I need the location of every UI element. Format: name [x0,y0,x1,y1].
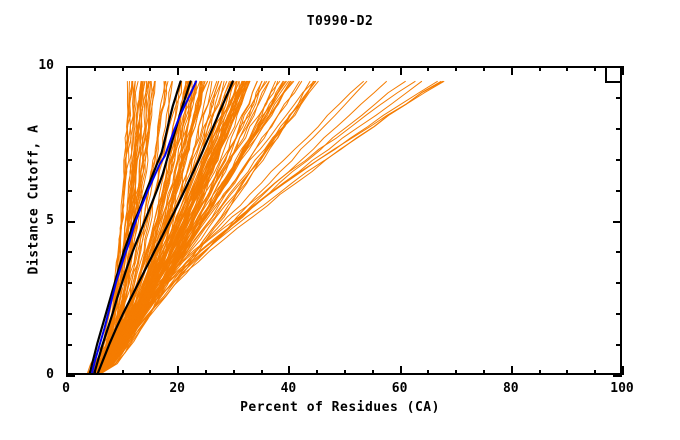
axis-tick [616,97,622,99]
chart-figure: T0990-D2 0204060801000510 Percent of Res… [0,0,680,440]
x-tick-label: 80 [491,381,531,396]
axis-tick [149,370,151,375]
chart-title: T0990-D2 [0,14,680,29]
axis-tick [66,313,72,315]
axis-tick [539,66,541,71]
axis-tick [316,370,318,375]
axis-tick [66,190,72,192]
axis-tick [261,66,263,71]
axis-tick [616,128,622,130]
axis-tick [94,66,96,71]
axis-tick [205,370,207,375]
axis-tick [372,370,374,375]
axis-tick [594,370,596,375]
axis-tick [233,370,235,375]
axis-tick [616,251,622,253]
axis-tick [511,366,513,375]
x-axis-label: Percent of Residues (CA) [0,400,680,415]
axis-tick [613,221,622,223]
plot-area [66,66,622,375]
prediction-curves-group [86,81,444,375]
axis-tick [66,159,72,161]
axis-tick [316,66,318,71]
axis-tick [427,370,429,375]
axis-tick [66,251,72,253]
axis-tick [622,366,624,375]
axis-tick [66,375,75,377]
axis-tick [94,370,96,375]
x-tick-label: 40 [268,381,308,396]
x-tick-label: 0 [46,381,86,396]
axis-tick [616,344,622,346]
axis-tick [344,66,346,71]
x-tick-label: 60 [380,381,420,396]
axis-tick [400,366,402,375]
axis-tick [122,370,124,375]
axis-tick [613,375,622,377]
axis-tick [288,366,290,375]
axis-tick [372,66,374,71]
axis-tick [566,66,568,71]
axis-tick [539,370,541,375]
axis-tick [455,370,457,375]
axis-tick [613,66,622,68]
axis-tick [66,282,72,284]
axis-tick [616,190,622,192]
axis-tick [149,66,151,71]
axis-tick [177,66,179,75]
axis-tick [594,66,596,71]
axis-tick [616,313,622,315]
axis-tick [205,66,207,71]
axis-tick [622,66,624,75]
axis-tick [511,66,513,75]
axis-tick [177,366,179,375]
axis-tick [66,221,75,223]
axis-tick [616,282,622,284]
axis-tick [66,97,72,99]
axis-tick [400,66,402,75]
axis-tick [616,159,622,161]
x-tick-label: 100 [602,381,642,396]
axis-tick [427,66,429,71]
curve-canvas [66,66,622,375]
y-axis-label: Distance Cutoff, A [27,80,42,320]
axis-tick [261,370,263,375]
axis-tick [455,66,457,71]
axis-tick [566,370,568,375]
axis-tick [233,66,235,71]
axis-tick [344,370,346,375]
axis-tick [483,66,485,71]
y-tick-label: 10 [28,58,54,73]
x-tick-label: 20 [157,381,197,396]
y-tick-label: 0 [28,367,54,382]
axis-tick [66,128,72,130]
axis-tick [66,366,68,375]
axis-tick [288,66,290,75]
axis-tick [483,370,485,375]
axis-tick [66,344,72,346]
axis-tick [122,66,124,71]
axis-tick [66,66,75,68]
